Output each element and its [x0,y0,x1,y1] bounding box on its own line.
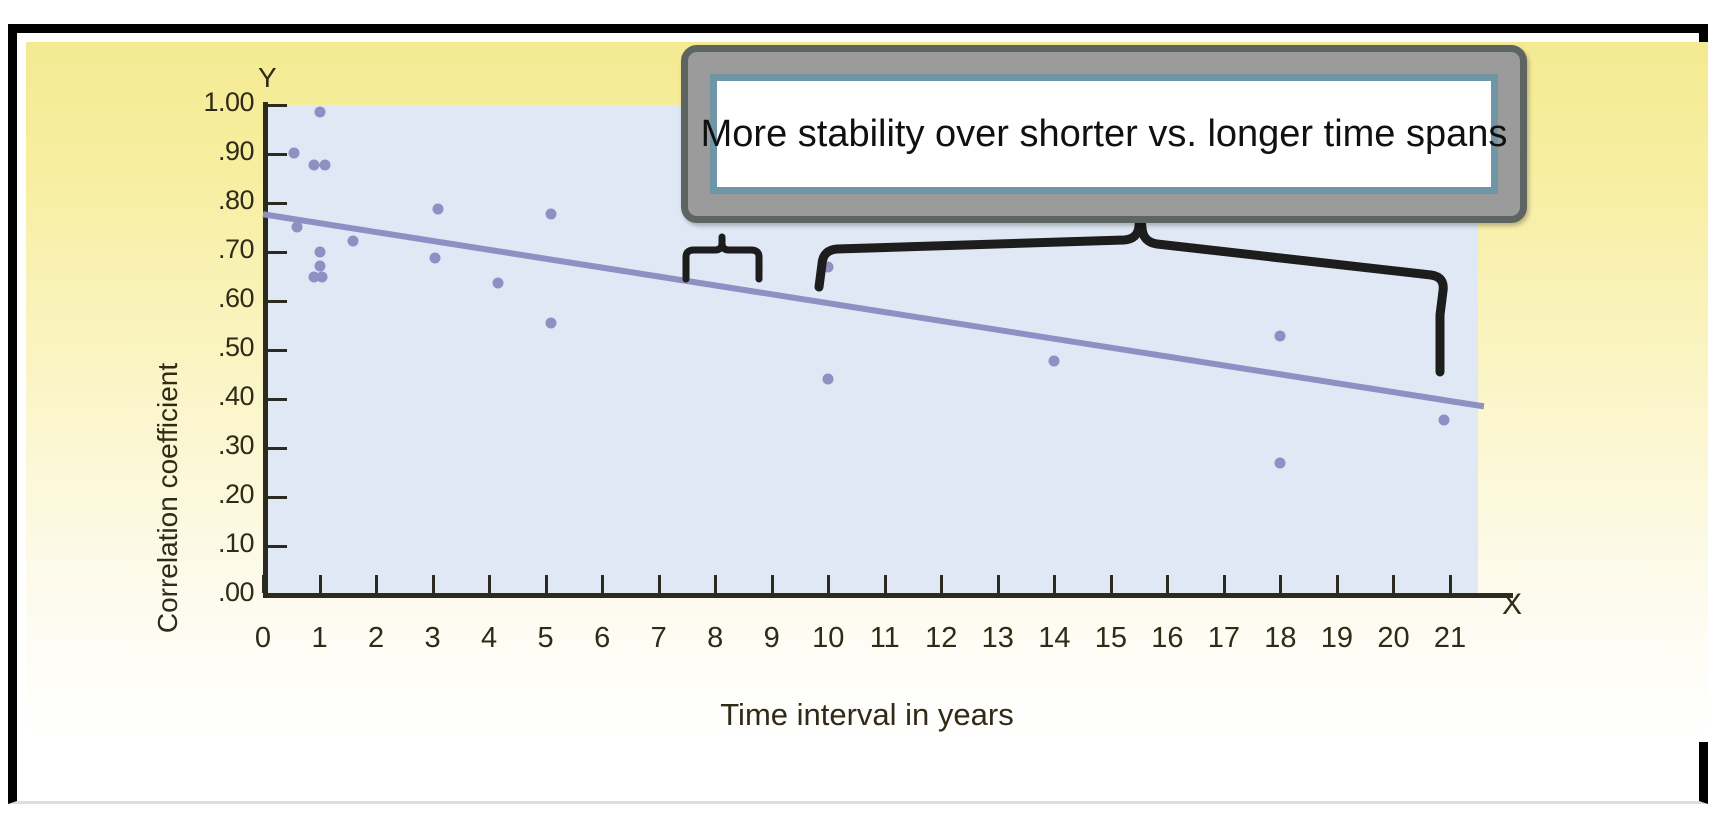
x-tick-mark [601,575,604,593]
x-tick-label: 2 [368,622,384,655]
y-tick-label: .60 [146,283,254,314]
y-tick-mark [268,300,287,303]
data-point [320,160,331,171]
y-tick-label: .00 [146,577,254,608]
x-tick-label: 21 [1434,622,1466,655]
x-tick-mark [1110,575,1113,593]
data-point [308,160,319,171]
x-tick-mark [1449,575,1452,593]
data-point [291,221,302,232]
y-axis-marker: Y [258,62,277,94]
x-tick-label: 19 [1321,622,1353,655]
x-tick-label: 0 [255,622,271,655]
x-axis-marker: X [1502,588,1522,622]
x-tick-label: 5 [538,622,554,655]
x-tick-label: 6 [594,622,610,655]
chart-figure: Y X Correlation coefficient 1.00.90.80.7… [26,42,1708,742]
x-tick-mark [545,575,548,593]
x-tick-mark [940,575,943,593]
x-tick-label: 3 [424,622,440,655]
x-tick-mark [1392,575,1395,593]
data-point [1275,457,1286,468]
x-tick-label: 14 [1038,622,1070,655]
data-point [546,209,557,220]
x-tick-label: 1 [311,622,327,655]
data-point [823,261,834,272]
x-tick-mark [997,575,1000,593]
x-tick-label: 4 [481,622,497,655]
y-tick-mark [268,202,287,205]
y-tick-label: .90 [146,136,254,167]
callout-text: More stability over shorter vs. longer t… [701,113,1508,156]
x-tick-label: 9 [764,622,780,655]
callout-inner: More stability over shorter vs. longer t… [710,74,1498,194]
data-point [823,374,834,385]
y-tick-label: .30 [146,430,254,461]
data-point [348,235,359,246]
y-tick-label: .40 [146,381,254,412]
x-tick-label: 18 [1264,622,1296,655]
data-point [314,247,325,258]
data-point [1275,331,1286,342]
y-tick-mark [268,349,287,352]
x-tick-label: 16 [1151,622,1183,655]
x-tick-mark [375,575,378,593]
x-tick-label: 13 [982,622,1014,655]
y-tick-mark [268,153,287,156]
x-tick-mark [432,575,435,593]
y-tick-label: .20 [146,479,254,510]
x-tick-mark [488,575,491,593]
x-tick-mark [827,575,830,593]
data-point [317,272,328,283]
data-point [289,148,300,159]
slide-frame: Y X Correlation coefficient 1.00.90.80.7… [8,24,1708,804]
x-tick-label: 17 [1208,622,1240,655]
data-point [546,317,557,328]
data-point [1049,355,1060,366]
x-tick-mark [1166,575,1169,593]
y-tick-label: 1.00 [146,87,254,118]
x-tick-label: 15 [1095,622,1127,655]
callout-box[interactable]: More stability over shorter vs. longer t… [681,45,1527,223]
x-tick-label: 7 [651,622,667,655]
x-tick-label: 11 [870,622,900,655]
x-tick-mark [714,575,717,593]
x-tick-mark [1223,575,1226,593]
x-tick-label: 12 [925,622,957,655]
y-tick-mark [268,398,287,401]
y-tick-mark [268,594,287,597]
x-tick-mark [884,575,887,593]
y-tick-label-group: 1.00.90.80.70.60.50.40.30.20.10.00 [146,42,254,742]
y-tick-mark [268,545,287,548]
x-tick-mark [262,575,265,593]
y-tick-mark [268,251,287,254]
x-tick-mark [1053,575,1056,593]
data-point [1439,414,1450,425]
x-tick-label: 10 [812,622,844,655]
x-tick-mark [771,575,774,593]
y-tick-mark [268,447,287,450]
x-tick-mark [1336,575,1339,593]
y-tick-label: .50 [146,332,254,363]
x-tick-mark [1279,575,1282,593]
x-tick-mark [658,575,661,593]
data-point [430,252,441,263]
data-point [433,204,444,215]
y-tick-mark [268,104,287,107]
data-point [492,277,503,288]
data-point [314,107,325,118]
data-point [314,260,325,271]
y-tick-label: .80 [146,185,254,216]
y-tick-mark [268,496,287,499]
y-tick-label: .70 [146,234,254,265]
x-tick-label: 20 [1377,622,1409,655]
y-tick-label: .10 [146,528,254,559]
x-tick-mark [319,575,322,593]
x-axis-line [263,593,1513,598]
x-axis-title: Time interval in years [26,697,1708,733]
x-tick-label: 8 [707,622,723,655]
